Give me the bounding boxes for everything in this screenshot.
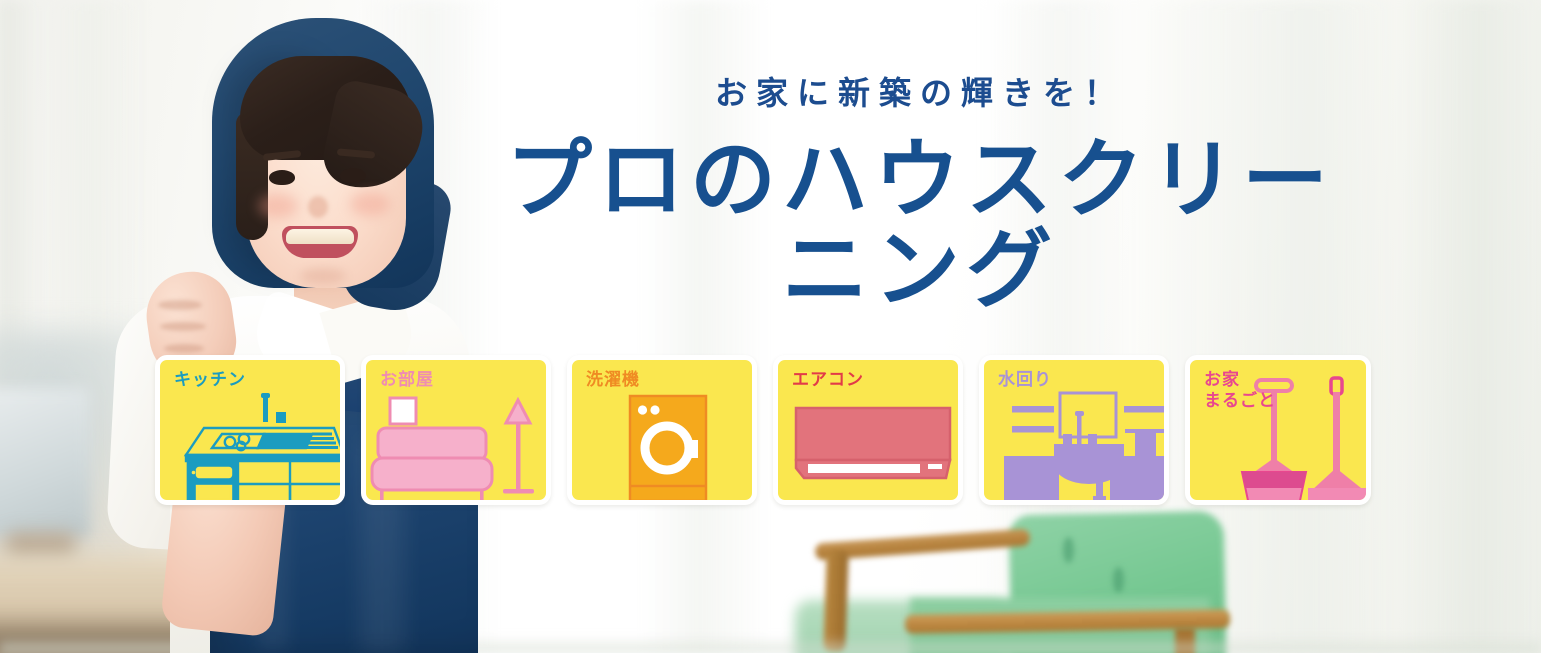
service-card-label: お部屋: [380, 370, 434, 391]
hero-headline: プロのハウスクリーニング: [470, 135, 1370, 316]
service-card-label: エアコン: [792, 370, 864, 391]
background-armchair-tuft: [1113, 567, 1124, 593]
staff-cheek-left: [258, 194, 298, 218]
service-card-washer[interactable]: 洗濯機: [567, 355, 757, 505]
staff-knuckle: [158, 300, 202, 310]
hero-text-block: お家に新築の輝きを！ プロのハウスクリーニング: [470, 76, 1370, 316]
cleaning-staff-photo: [60, 0, 490, 653]
service-card-water[interactable]: 水回り: [979, 355, 1169, 505]
service-card-room[interactable]: お部屋: [361, 355, 551, 505]
staff-mouth: [282, 226, 358, 258]
service-card-label: キッチン: [174, 370, 246, 391]
hero-subheadline: お家に新築の輝きを！: [470, 76, 1370, 111]
staff-knuckle: [164, 344, 204, 353]
staff-cheek-right: [350, 192, 390, 216]
staff-teeth: [286, 229, 354, 244]
staff-chin-shadow: [300, 268, 346, 284]
staff-nose: [308, 196, 328, 218]
service-card-kitchen[interactable]: キッチン: [155, 355, 345, 505]
hero-banner: お家に新築の輝きを！ プロのハウスクリーニング: [0, 0, 1541, 653]
service-card-label: 洗濯機: [586, 370, 640, 391]
service-card-label: 水回り: [998, 370, 1052, 391]
service-card-label: お家 まるごと: [1204, 370, 1276, 411]
staff-eye-right: [340, 168, 366, 183]
service-card-aircon[interactable]: エアコン: [773, 355, 963, 505]
background-armchair-tuft: [1063, 537, 1074, 563]
staff-eye-left: [269, 170, 295, 185]
staff-knuckle: [160, 322, 206, 331]
service-card-whole-house[interactable]: お家 まるごと: [1185, 355, 1371, 505]
service-card-row: キッチン: [155, 355, 1371, 505]
